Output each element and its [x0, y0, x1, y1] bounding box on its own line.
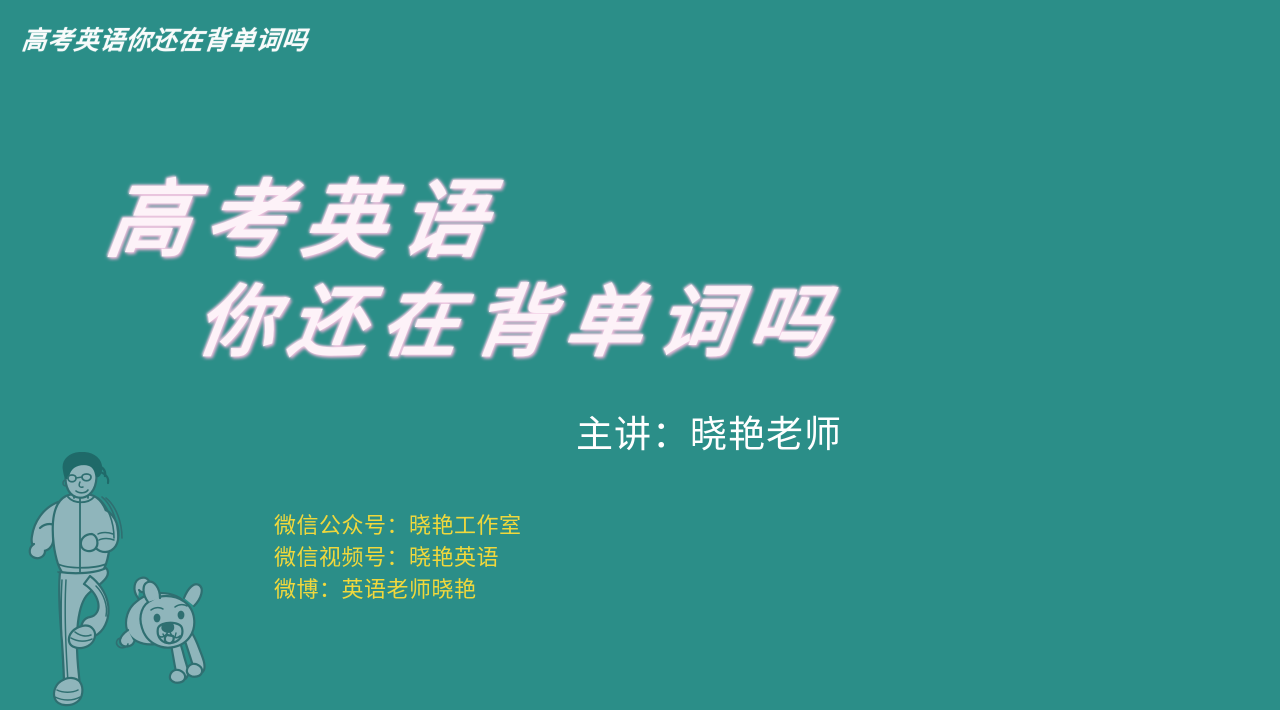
- contact-line-wechat-channel: 微信视频号：晓艳英语: [274, 542, 522, 574]
- title-slide: 高考英语你还在背单词吗 高考英语 你还在背单词吗 主讲：晓艳老师 微信公众号：晓…: [0, 0, 1280, 710]
- channel-watermark: 高考英语你还在背单词吗: [21, 28, 310, 54]
- contact-line-weibo: 微博：英语老师晓艳: [274, 574, 522, 606]
- main-title: 高考英语 你还在背单词吗: [0, 178, 900, 362]
- contact-line-wechat-official: 微信公众号：晓艳工作室: [274, 510, 522, 542]
- jogger-dog-svg: [18, 452, 218, 708]
- title-line-2: 你还在背单词吗: [193, 284, 906, 362]
- contact-info-block: 微信公众号：晓艳工作室 微信视频号：晓艳英语 微博：英语老师晓艳: [274, 510, 522, 606]
- presenter-name: 主讲：晓艳老师: [576, 414, 842, 457]
- title-line-1: 高考英语: [102, 178, 906, 262]
- jogger-with-dog-illustration: [18, 452, 218, 708]
